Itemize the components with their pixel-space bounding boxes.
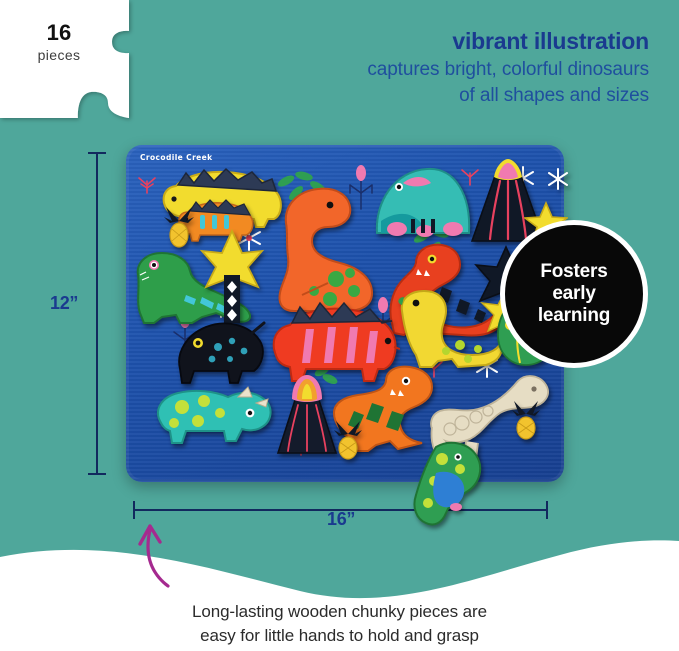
bottom-caption: Long-lasting wooden chunky pieces are ea… [0, 600, 679, 648]
headline-subtitle-2: of all shapes and sizes [219, 84, 649, 109]
piece-dinosaur-teal-dome[interactable] [373, 161, 473, 237]
piece-count-badge: 16 pieces [0, 22, 118, 65]
height-measure-cap-top [88, 152, 106, 154]
width-measure-cap-right [546, 501, 548, 519]
piece-brontosaurus-yellow[interactable] [398, 289, 506, 371]
piece-pineapple-decor-3[interactable] [510, 399, 542, 441]
promo-line-1: Fosters [538, 261, 610, 283]
caption-line-1: Long-lasting wooden chunky pieces are [0, 600, 679, 624]
piece-count-label: pieces [0, 47, 118, 65]
promo-line-3: learning [538, 305, 610, 327]
height-measure-line [96, 152, 98, 475]
piece-count-number: 16 [0, 22, 118, 44]
caption-line-2: easy for little hands to hold and grasp [0, 624, 679, 648]
piece-dinosaur-green-loose[interactable] [402, 437, 494, 529]
marketing-image: Crocodile Creek [0, 0, 679, 651]
piece-triceratops-teal[interactable] [152, 373, 274, 459]
height-label: 12” [50, 293, 78, 314]
headline-block: vibrant illustration captures bright, co… [219, 28, 649, 109]
brand-logo: Crocodile Creek [140, 153, 213, 162]
pointer-arrow [130, 516, 190, 588]
piece-star-tree-yellow[interactable] [200, 229, 264, 325]
height-measure-cap-bottom [88, 473, 106, 475]
promo-line-2: early [538, 283, 610, 305]
promo-badge-text: Fosters early learning [538, 261, 610, 327]
piece-pineapple-decor-2[interactable] [332, 419, 364, 461]
headline-subtitle-1: captures bright, colorful dinosaurs [219, 58, 649, 83]
product-photo: Crocodile Creek [126, 145, 564, 482]
headline-title: vibrant illustration [219, 28, 649, 56]
promo-badge: Fosters early learning [500, 220, 648, 368]
sparkle-decor-white-5 [546, 167, 570, 191]
